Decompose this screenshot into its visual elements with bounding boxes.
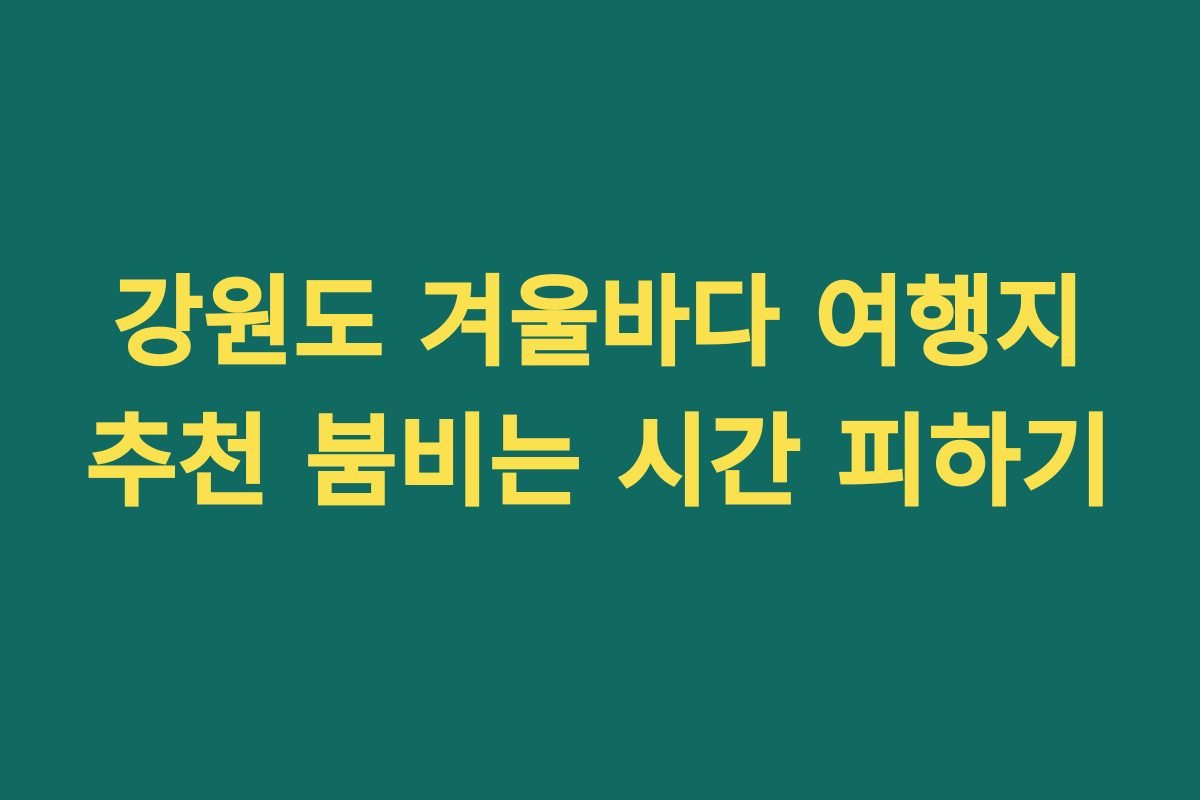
headline-line-1: 강원도 겨울바다 여행지 bbox=[40, 253, 1160, 393]
title-card: 강원도 겨울바다 여행지 추천 붐비는 시간 피하기 bbox=[0, 0, 1200, 800]
headline-line-2: 추천 붐비는 시간 피하기 bbox=[40, 393, 1160, 533]
headline-block: 강원도 겨울바다 여행지 추천 붐비는 시간 피하기 bbox=[0, 253, 1200, 533]
